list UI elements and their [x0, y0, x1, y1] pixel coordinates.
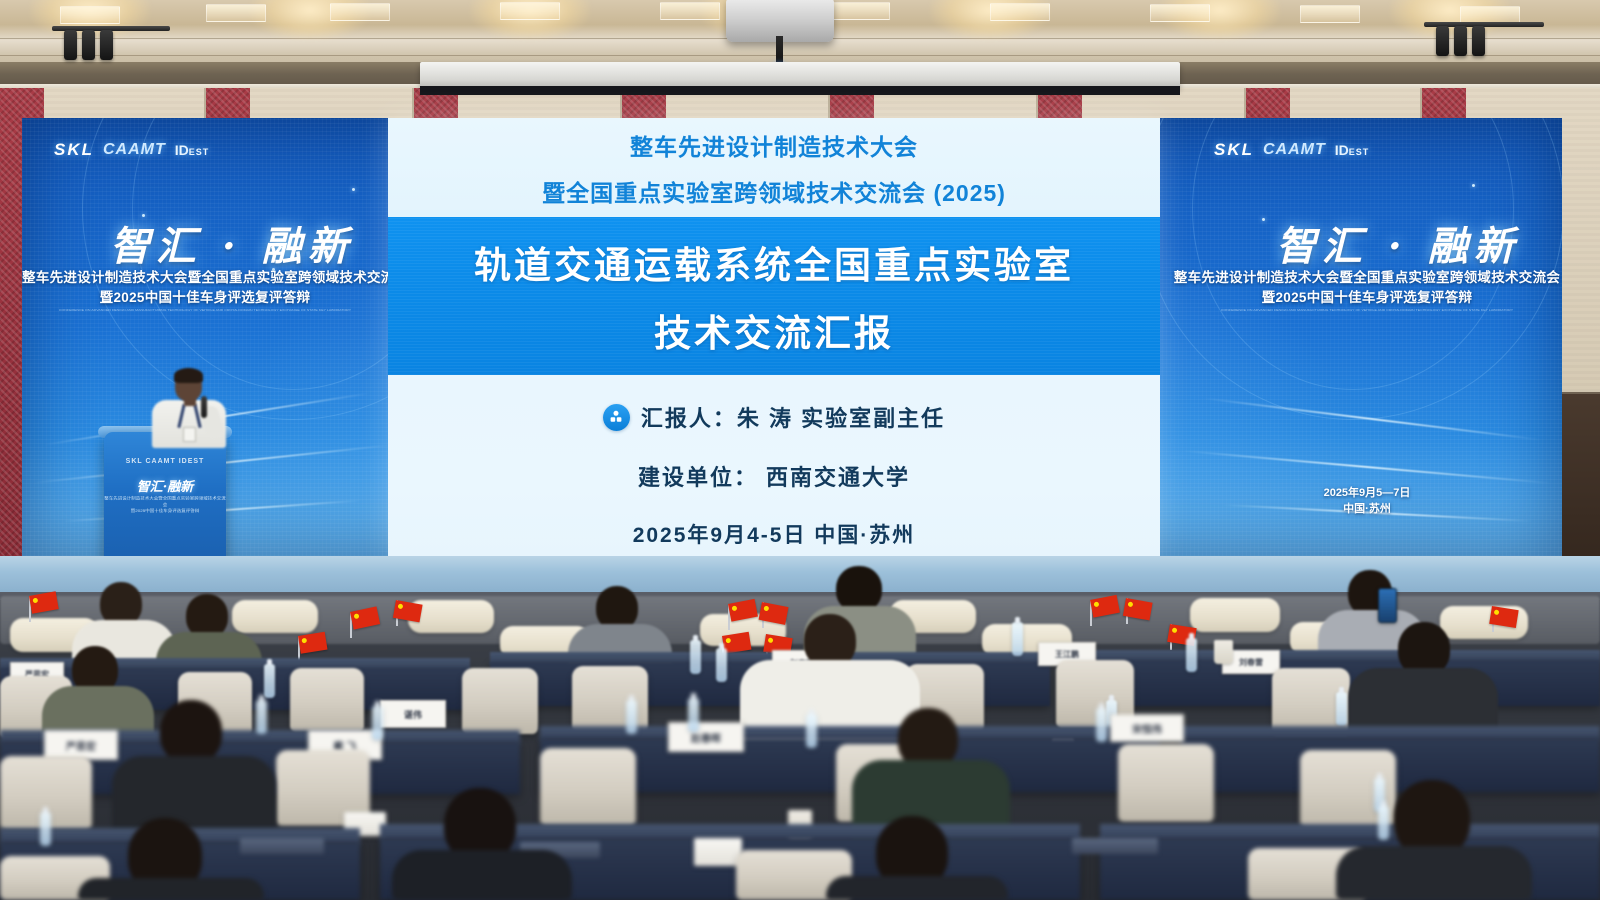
- track-light: [1436, 26, 1449, 56]
- banner-subtitle-line1-left: 整车先进设计制造技术大会暨全国重点实验室跨领域技术交流会: [22, 266, 388, 286]
- presenter-row: 汇报人：朱 涛 实验室副主任: [603, 401, 945, 433]
- banner-logo-group-left: SKL CAAMT IDEST: [54, 140, 209, 160]
- idest-logo: IDEST: [1335, 142, 1370, 158]
- water-bottle: [1378, 806, 1389, 840]
- caamt-logo: CAAMT: [103, 141, 166, 159]
- podium-logos: SKL CAAMT IDEST: [104, 458, 226, 465]
- audience-chair: [290, 668, 364, 732]
- name-card: 谌伟: [380, 700, 446, 728]
- person-avatar-icon: [603, 404, 630, 431]
- idest-logo: IDEST: [175, 142, 210, 158]
- slide-date-location: 2025年9月4-5日 中国·苏州: [633, 519, 916, 549]
- seat-cushion: [232, 600, 318, 633]
- presenter-name: 汇报人：朱 涛 实验室副主任: [641, 401, 945, 433]
- water-bottle: [40, 812, 51, 846]
- slide-header: 整车先进设计制造技术大会 暨全国重点实验室跨领域技术交流会 (2025): [388, 118, 1160, 217]
- skl-logo: SKL: [54, 140, 94, 160]
- speaker-badge: [183, 427, 196, 442]
- tissue-box: [694, 838, 742, 866]
- conference-photo: SKL CAAMT IDEST 智汇 · 融新 整车先进设计制造技术大会暨全国重…: [0, 0, 1600, 900]
- water-bottle: [1096, 708, 1107, 742]
- name-card: 宋恒伟: [1110, 714, 1184, 742]
- banner-date-right: 2025年9月5—7日 中国·苏州: [1172, 486, 1562, 518]
- podium: SKL CAAMT IDEST 智汇·融新 整车先进设计制造技术大会暨全国重点实…: [104, 432, 226, 568]
- water-bottle: [372, 706, 383, 740]
- banner-fineprint-left: CONFERENCE ON ADVANCED DESIGN AND MANUFA…: [22, 308, 388, 311]
- screen-housing-shadow: [420, 86, 1180, 95]
- audience-chair: [540, 748, 636, 826]
- track-light: [82, 30, 95, 60]
- skl-logo: SKL: [1214, 140, 1254, 160]
- banner-subtitle-line2-right: 暨2025中国十佳车身评选复评答辩: [1172, 286, 1562, 306]
- water-bottle: [1012, 622, 1023, 656]
- audience-chair: [462, 668, 538, 734]
- smartphone-recording: [1378, 588, 1397, 623]
- water-bottle: [716, 648, 727, 682]
- seat-cushion: [1190, 598, 1280, 632]
- presentation-slide: 整车先进设计制造技术大会 暨全国重点实验室跨领域技术交流会 (2025) 轨道交…: [388, 118, 1160, 556]
- banner-subtitle-line2-left: 暨2025中国十佳车身评选复评答辩: [22, 286, 388, 306]
- screen-housing: [420, 62, 1180, 88]
- slide-title-line1: 轨道交通运载系统全国重点实验室: [474, 235, 1074, 289]
- water-bottle: [264, 664, 275, 698]
- water-bottle: [688, 698, 699, 732]
- water-bottle: [256, 700, 267, 734]
- podium-subtitle: 整车先进设计制造技术大会暨全国重点实验室跨领域技术交流会 暨2025中国十佳车身…: [104, 496, 226, 514]
- track-light: [1472, 26, 1485, 56]
- paper-cup: [1214, 640, 1233, 664]
- name-card: 赵春晖: [668, 722, 744, 752]
- speaker-hair: [174, 368, 203, 383]
- slide-title-band: 轨道交通运载系统全国重点实验室 技术交流汇报: [388, 217, 1160, 375]
- water-bottle: [626, 700, 637, 734]
- podium-calligraphy: 智汇·融新: [104, 476, 226, 495]
- slide-body: 汇报人：朱 涛 实验室副主任 建设单位： 西南交通大学 2025年9月4-5日 …: [388, 375, 1160, 556]
- track-light: [64, 30, 77, 60]
- calligraphy-title-left: 智汇 · 融新: [110, 214, 354, 272]
- water-bottle: [806, 714, 817, 748]
- laptop: [1072, 838, 1158, 854]
- led-banner-right: SKL CAAMT IDEST 智汇 · 融新 整车先进设计制造技术大会暨全国重…: [1172, 118, 1562, 556]
- slide-header-line1: 整车先进设计制造技术大会: [630, 128, 918, 162]
- banner-fineprint-right: CONFERENCE ON ADVANCED DESIGN AND MANUFA…: [1172, 308, 1562, 311]
- water-bottle: [1336, 692, 1347, 726]
- calligraphy-title-right: 智汇 · 融新: [1276, 214, 1520, 272]
- water-bottle: [1186, 638, 1197, 672]
- water-bottle: [690, 640, 701, 674]
- banner-logo-group-right: SKL CAAMT IDEST: [1214, 140, 1369, 160]
- track-light: [100, 30, 113, 60]
- handheld-microphone: [201, 396, 207, 418]
- laptop: [240, 838, 324, 854]
- organization-name: 建设单位： 西南交通大学: [638, 460, 910, 492]
- banner-subtitle-line1-right: 整车先进设计制造技术大会暨全国重点实验室跨领域技术交流会: [1172, 266, 1562, 286]
- track-light: [1454, 26, 1467, 56]
- slide-title-line2: 技术交流汇报: [654, 303, 894, 357]
- caamt-logo: CAAMT: [1263, 141, 1326, 159]
- slide-header-line2: 暨全国重点实验室跨领域技术交流会 (2025): [542, 174, 1006, 208]
- audience-chair: [1118, 744, 1214, 822]
